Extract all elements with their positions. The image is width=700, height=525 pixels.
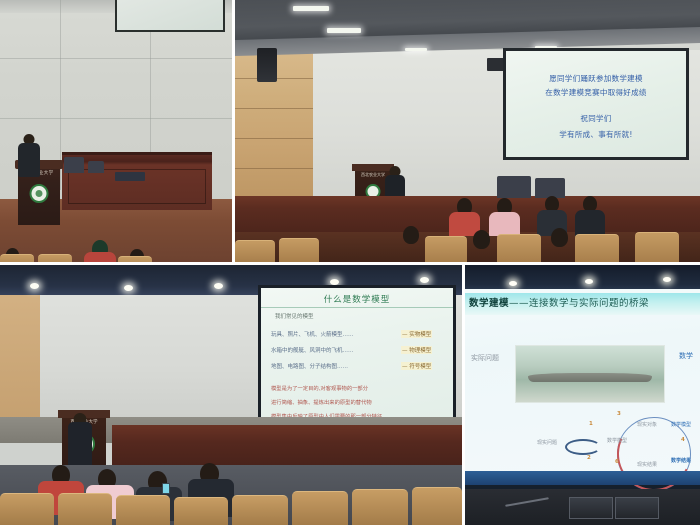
panel-top-left: 西北农业大学 [0,0,232,262]
ceiling-light [214,283,223,289]
auditorium-seat [58,493,112,525]
cycle-step-6: 6 [615,459,619,465]
chair [497,176,531,198]
panel-bottom-right: 数学建模——连接数学与实际问题的桥梁 实际问题 数学 现实问题 数学模型 现实对… [465,265,700,525]
cycle-label-real-problem: 现实问题 [537,439,557,446]
slide-item-3: 地图、电路图、分子结构图…… [271,362,348,370]
wall-seam [0,118,232,119]
slide-item-1-tag: — 实物模型 [401,330,432,338]
auditorium-seat [497,234,541,262]
auditorium-seat [575,234,619,262]
projection-screen: 愿同学们踊跃参加数学建模 在数学建模竞赛中取得好成绩 祝同学们 学有所成、事有所… [503,48,689,160]
laptop [115,172,145,181]
auditorium-seat [425,236,467,262]
auditorium-seat [232,495,288,525]
auditorium-seat [174,497,228,525]
audience-head [473,230,490,249]
speaker-body [18,143,40,177]
cycle-label-real-result: 现实结果 [637,461,657,468]
slide-line-3: 祝同学们 [506,113,686,124]
chair [535,178,565,198]
audience-body [575,210,605,236]
projection-slide: 数学建模——连接数学与实际问题的桥梁 实际问题 数学 现实问题 数学模型 现实对… [465,289,700,489]
ceiling-light [420,277,429,283]
monitor [615,497,659,519]
smartphone [162,483,170,494]
stage-bench-table [112,425,462,469]
auditorium-seat [279,238,319,262]
ceiling-light [30,283,39,289]
slide-item-3-tag: — 符号模型 [401,362,432,370]
chair [64,157,84,173]
projection-screen [115,0,225,32]
bridge-photo [515,345,665,403]
slide-subtitle: 我们常见的模型 [275,312,314,320]
slide-title: 什么是数学模型 [261,293,453,308]
ceiling-light [509,281,517,286]
auditorium-seat [0,254,34,262]
speaker-body [68,422,92,470]
ceiling-light [124,285,133,291]
ceiling-light [663,277,671,282]
slide-item-2-tag: — 物理模型 [401,346,432,354]
wood-wall-panel [0,291,40,423]
audience-head [403,226,419,244]
ceiling-light [405,48,427,51]
slide-line-2: 在数学建模竞赛中取得好成绩 [506,87,686,98]
auditorium-seat [118,256,152,262]
speaker [18,134,40,178]
wall-seam [0,58,232,59]
projection-slide: 什么是数学模型 我们常见的模型 玩具、照片、飞机、火箭模型…… — 实物模型 水… [258,285,456,423]
ceiling-light [293,6,329,11]
slide-line-4: 学有所成、事有所就! [506,129,686,140]
cycle-step-4: 4 [681,437,685,443]
wall-speaker [257,48,277,82]
university-emblem-icon [30,184,49,203]
monitor [569,497,613,519]
panel-bottom-left: 什么是数学模型 我们常见的模型 玩具、照片、飞机、火箭模型…… — 实物模型 水… [0,265,462,525]
cycle-label-math-result: 数学结果 [671,457,691,464]
slide-definition-1: 模型是为了一定目的,对客观事物的一部分 [271,384,368,392]
auditorium-seat [38,254,72,262]
audience-body [489,212,520,236]
ceiling-light [585,279,593,284]
audience-body [84,252,116,262]
auditorium-seat [412,487,462,525]
auditorium-seat [635,232,679,262]
slide-item-1: 玩具、照片、飞机、火箭模型…… [271,330,354,338]
audience-head [551,228,568,247]
slide-title-sub: ——连接数学与实际问题的桥梁 [509,298,649,309]
cycle-label-real-object: 现实对象 [637,421,657,428]
slide-item-2: 水箱中的舰艇、风洞中的飞机…… [271,346,354,354]
water-band [465,471,700,485]
auditorium-seat [352,489,408,525]
ceiling-light [327,28,361,33]
auditorium-seat [0,493,54,525]
speaker [68,413,92,471]
auditorium-seat [116,495,170,525]
slide-label-real-problem: 实际问题 [471,353,499,363]
slide-line-1: 愿同学们踊跃参加数学建模 [506,73,686,84]
chair [88,161,104,173]
auditorium-seat [235,240,275,262]
auditorium-seat [292,491,348,525]
slide-definition-2: 进行简缩、抽象、提炼出来的原型的替代物 [271,398,372,406]
cycle-label-math-model: 数学模型 [607,437,627,444]
panel-top-right: 愿同学们踊跃参加数学建模 在数学建模竞赛中取得好成绩 祝同学们 学有所成、事有所… [235,0,700,262]
cycle-label-math-model-2: 数学模型 [671,421,691,428]
modeling-loop-arrow [565,439,601,455]
photo-collage: 西北农业大学 愿同学们踊跃参加数 [0,0,700,525]
slide-title: 数学建模——连接数学与实际问题的桥梁 [469,295,649,309]
slide-title-main: 数学建模 [469,298,509,309]
cycle-step-3: 3 [617,411,621,417]
cycle-step-1: 1 [589,421,593,427]
slide-label-mathematics: 数学 [679,351,693,361]
